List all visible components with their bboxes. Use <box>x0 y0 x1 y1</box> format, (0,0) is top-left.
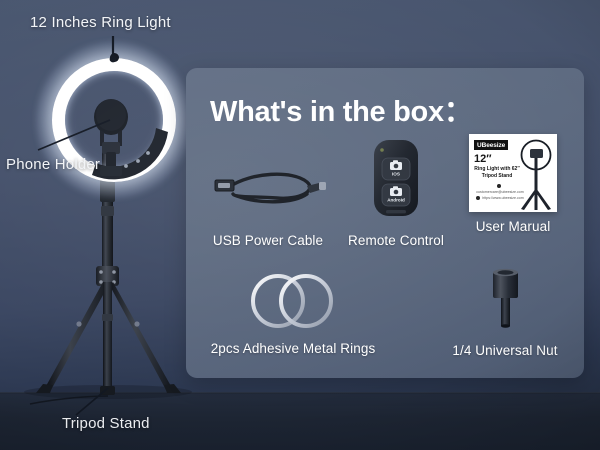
metal-rings-icon <box>198 270 388 337</box>
box-item-label: Remote Control <box>334 233 458 248</box>
annotation-phone-holder-label: Phone Holder <box>6 156 100 173</box>
manual-cover-product-art <box>511 136 557 212</box>
box-item-label: USB Power Cable <box>198 233 338 248</box>
annotation-tripod-stand-label: Tripod Stand <box>62 415 150 432</box>
user-manual-icon: UBeesize 12″ Ring Light with 62″ Tripod … <box>469 134 557 212</box>
universal-nut-icon <box>438 264 572 339</box>
box-item-usb-power-cable: USB Power Cable <box>198 156 338 248</box>
box-item-remote-control: IOS Android Remote Control IOS Android <box>334 136 458 248</box>
remote-android-button-label: Android <box>396 248 397 249</box>
manual-size-text: 12″ <box>474 153 492 165</box>
remote-ios-button-label: IOS <box>396 248 397 249</box>
svg-text:IOS: IOS <box>392 172 400 177</box>
box-item-label: User Marual <box>454 219 572 234</box>
box-item-universal-nut: 1/4 Universal Nut <box>438 264 572 358</box>
remote-control-icon: IOS Android <box>334 136 458 227</box>
whats-in-the-box-panel: What's in the box： USB Power Cable <box>186 68 584 378</box>
manual-brand-text: UBeesize <box>474 140 508 150</box>
box-item-label: 1/4 Universal Nut <box>438 343 572 358</box>
box-item-label: 2pcs Adhesive Metal Rings <box>198 341 388 356</box>
usb-cable-icon <box>198 156 338 227</box>
svg-text:Android: Android <box>387 198 405 203</box>
box-item-adhesive-metal-rings: 2pcs Adhesive Metal Rings <box>198 270 388 356</box>
panel-title: What's in the box： <box>210 88 473 130</box>
box-item-user-manual: UBeesize 12″ Ring Light with 62″ Tripod … <box>454 134 572 234</box>
product-infographic: 12 Inches Ring Light Phone Holder Tripod… <box>0 0 600 450</box>
annotation-ring-light-label: 12 Inches Ring Light <box>30 14 171 31</box>
